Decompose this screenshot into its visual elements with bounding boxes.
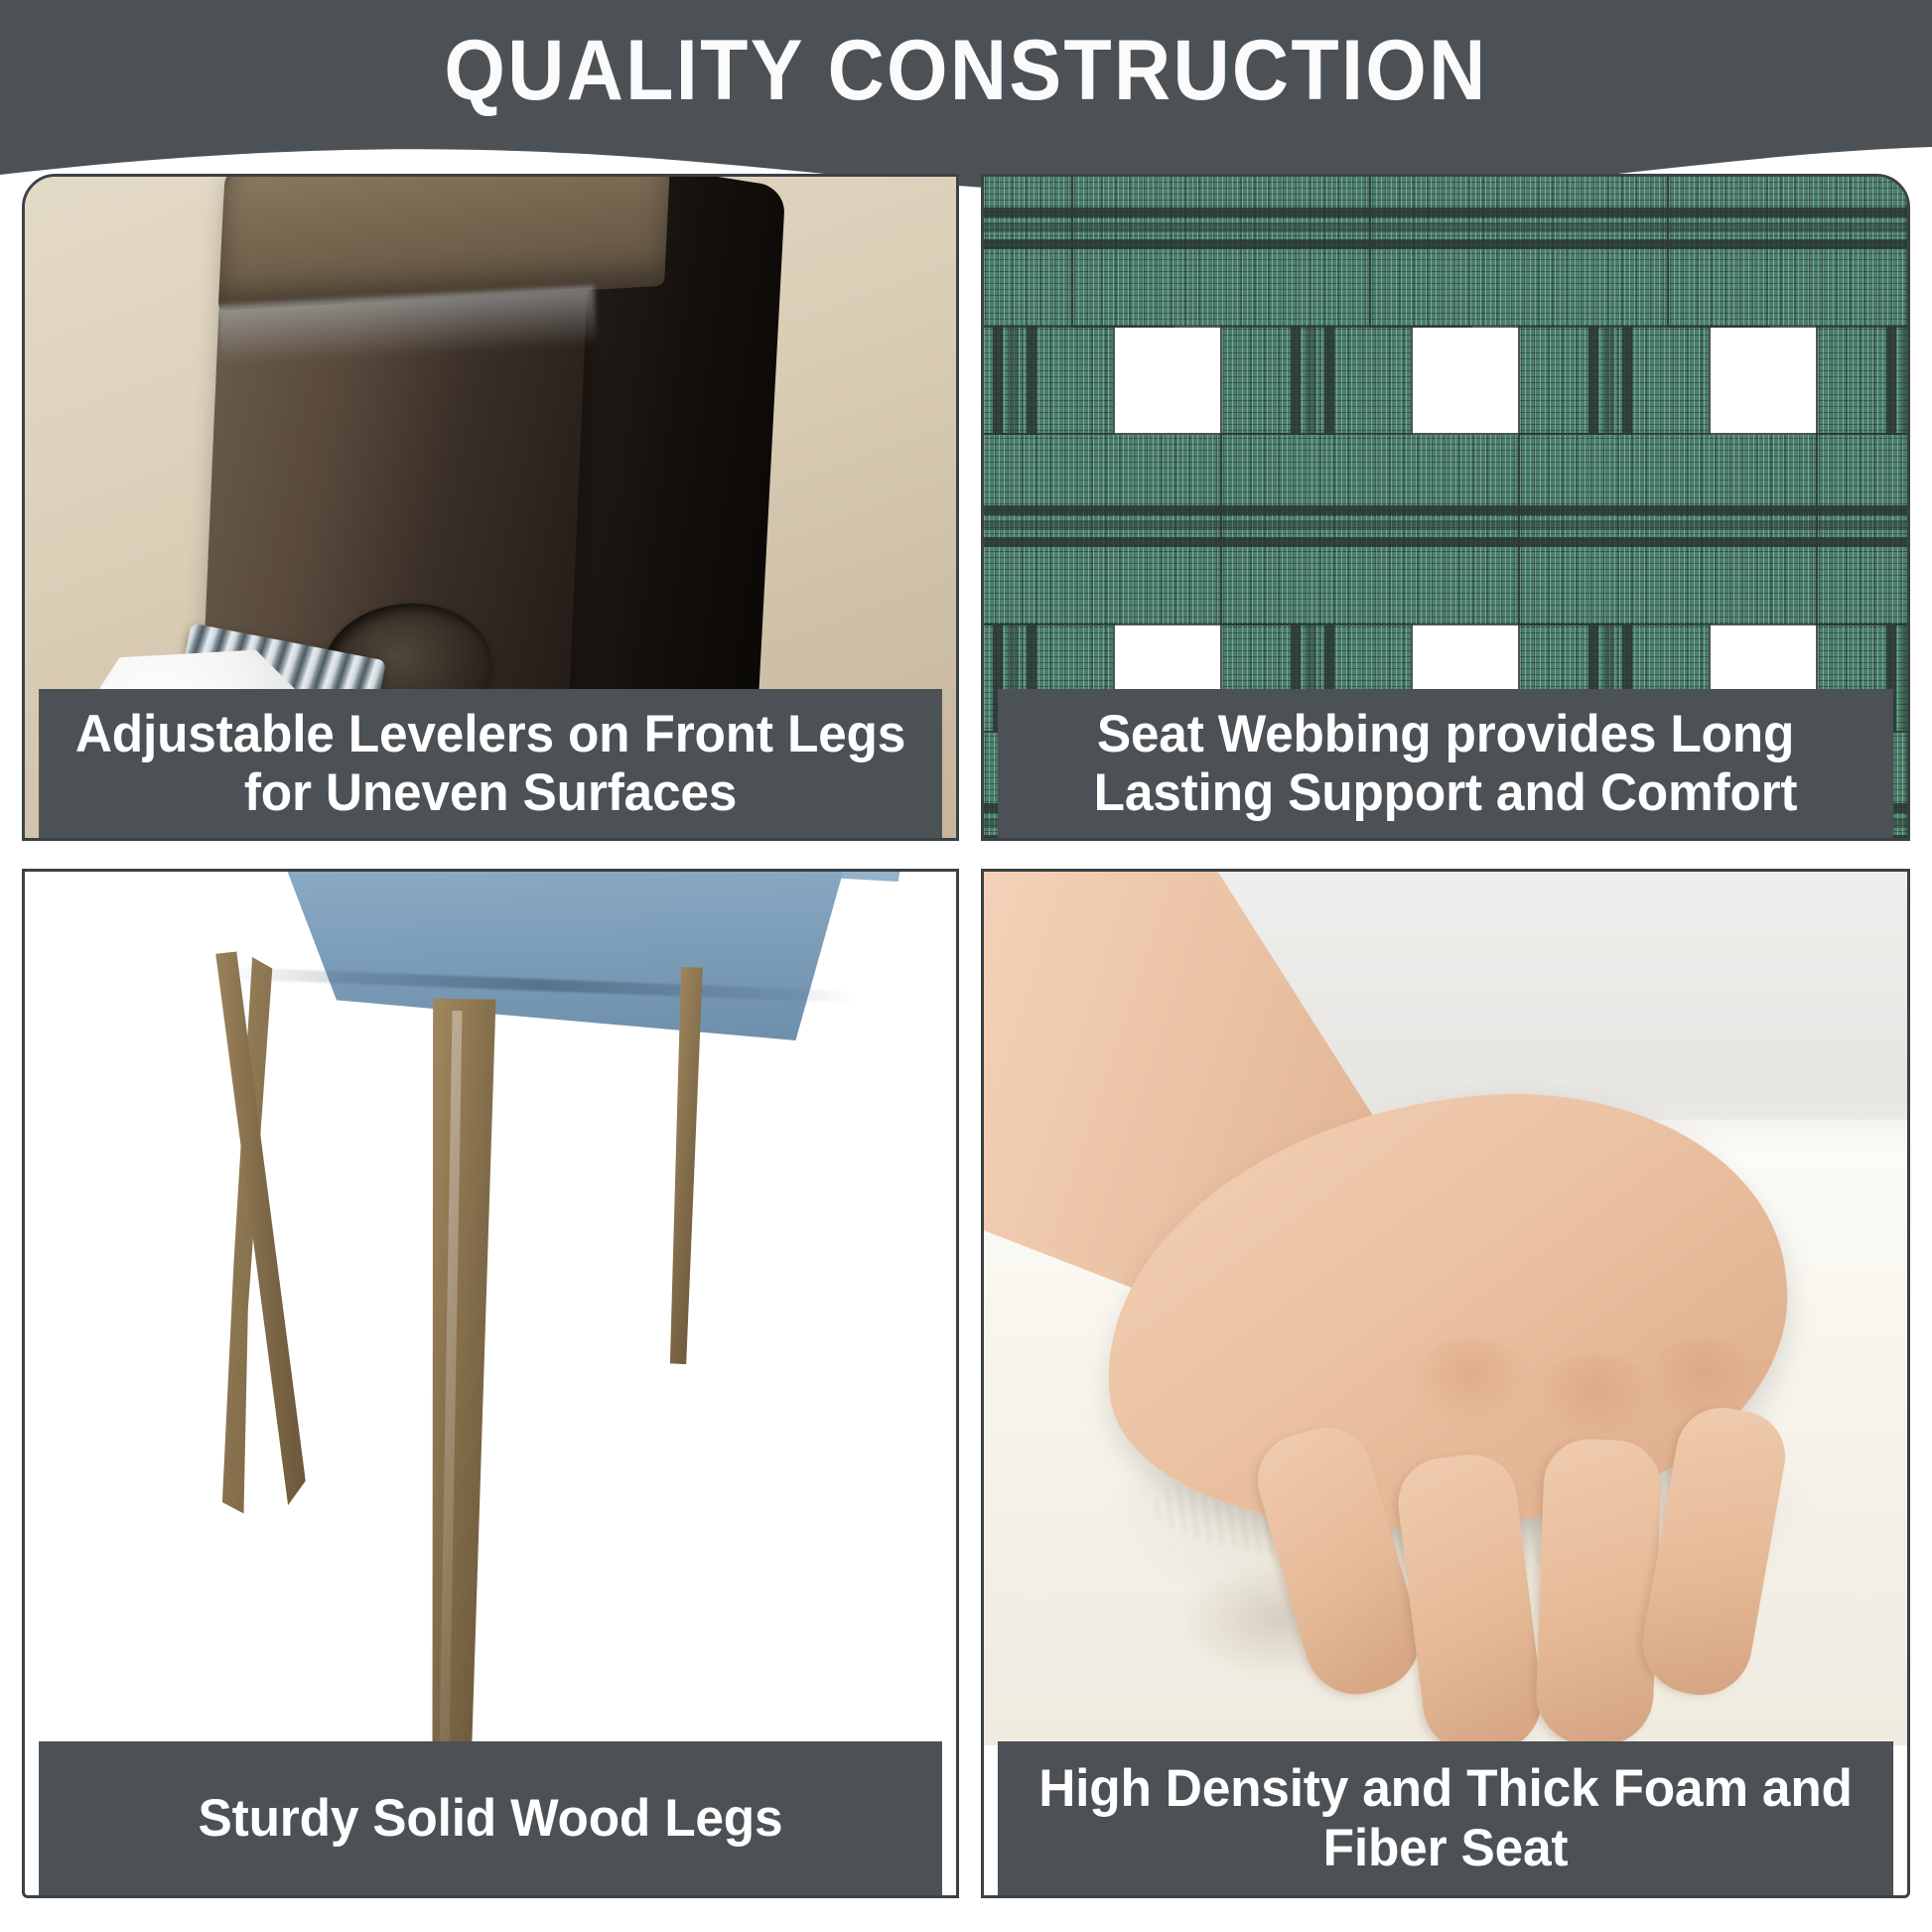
knuckle	[1411, 1338, 1530, 1424]
foam-photo-background	[984, 872, 1907, 1745]
caption-text: Sturdy Solid Wood Legs	[199, 1789, 783, 1848]
panel-caption: High Density and Thick Foam and Fiber Se…	[998, 1741, 1893, 1895]
webbing-strap-horizontal	[1818, 435, 1907, 623]
knuckle	[1536, 1354, 1655, 1440]
panel-seat-webbing[interactable]: Seat Webbing provides Long Lasting Suppo…	[981, 174, 1910, 841]
panel-frame: Seat Webbing provides Long Lasting Suppo…	[981, 174, 1910, 841]
caption-text: Seat Webbing provides Long Lasting Suppo…	[1012, 705, 1880, 823]
panel-caption: Seat Webbing provides Long Lasting Suppo…	[998, 689, 1893, 838]
feature-grid: Adjustable Levelers on Front Legs for Un…	[0, 169, 1932, 1932]
panel-adjustable-levelers[interactable]: Adjustable Levelers on Front Legs for Un…	[22, 174, 959, 841]
panel-caption: Adjustable Levelers on Front Legs for Un…	[39, 689, 942, 838]
panel-frame: Adjustable Levelers on Front Legs for Un…	[22, 174, 959, 841]
finger	[1535, 1438, 1663, 1745]
page-title: QUALITY CONSTRUCTION	[77, 28, 1855, 113]
infographic-page: QUALITY CONSTRUCTION	[0, 0, 1932, 1932]
wood-legs-photo-background	[25, 872, 956, 1745]
wood-legs-photo	[25, 872, 956, 1745]
webbing-strap-horizontal	[1669, 177, 1907, 326]
panel-caption: Sturdy Solid Wood Legs	[39, 1741, 942, 1895]
panel-solid-wood-legs[interactable]: Sturdy Solid Wood Legs	[22, 869, 959, 1898]
panel-frame: Sturdy Solid Wood Legs	[22, 869, 959, 1898]
caption-text: High Density and Thick Foam and Fiber Se…	[1012, 1759, 1880, 1877]
upholstered-seat-apron	[202, 872, 877, 1040]
caption-text: Adjustable Levelers on Front Legs for Un…	[53, 705, 929, 823]
knuckle	[1647, 1338, 1758, 1420]
panel-high-density-foam[interactable]: High Density and Thick Foam and Fiber Se…	[981, 869, 1910, 1898]
foam-photo	[984, 872, 1907, 1745]
panel-frame: High Density and Thick Foam and Fiber Se…	[981, 869, 1910, 1898]
